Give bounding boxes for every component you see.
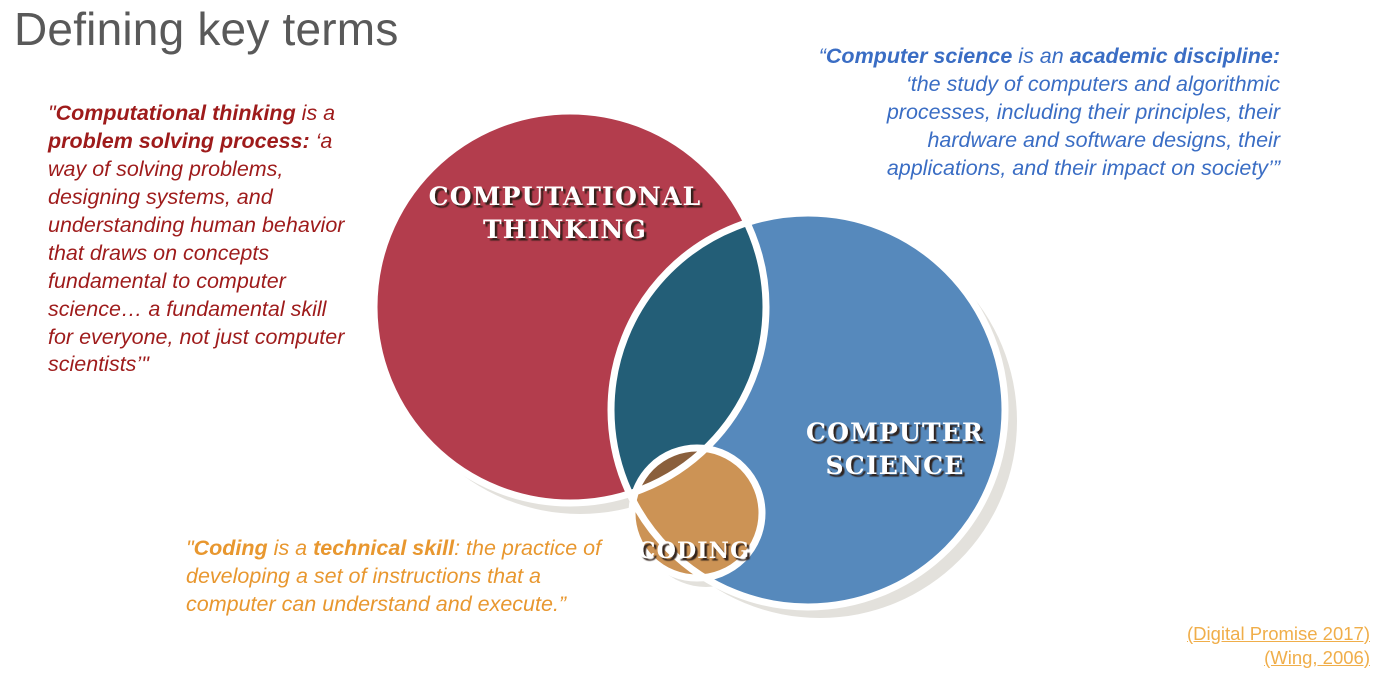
circle-coding[interactable]	[632, 448, 762, 578]
ct-circle-outline	[374, 111, 766, 503]
label-coding: CODING	[638, 538, 750, 564]
quote-cs-body: ‘the study of computers and algorithmic …	[887, 72, 1280, 180]
quote-ct-open: "	[48, 101, 56, 125]
label-computational-thinking-line1: COMPUTATIONAL	[429, 182, 702, 211]
quote-cs-mid1: is an	[1012, 44, 1069, 68]
citation-list: (Digital Promise 2017) (Wing, 2006)	[1187, 622, 1370, 670]
label-computer-science-line1: COMPUTER	[806, 418, 984, 447]
quote-computer-science: “Computer science is an academic discipl…	[810, 43, 1280, 183]
quote-coding-open: "	[186, 536, 194, 560]
quote-cs-bold1: Computer science	[826, 44, 1012, 68]
circle-computational-thinking[interactable]	[374, 111, 766, 503]
quote-coding-bold2: technical skill	[313, 536, 454, 560]
label-computational-thinking-line2: THINKING	[483, 215, 647, 244]
intersection-ct-cs	[611, 213, 1005, 607]
intersection-ct-cs-coding	[611, 213, 1005, 607]
citation-link-digital-promise[interactable]: (Digital Promise 2017)	[1187, 622, 1370, 646]
circle-computer-science[interactable]	[611, 213, 1005, 607]
slide-canvas: Defining key terms	[0, 0, 1384, 676]
page-title: Defining key terms	[14, 2, 399, 56]
quote-cs-bold2: academic discipline:	[1070, 44, 1280, 68]
cs-circle-shadow	[623, 224, 1017, 618]
label-computer-science-line2: SCIENCE	[826, 451, 965, 480]
coding-circle-shadow	[641, 457, 771, 587]
ct-circle-shadow	[384, 122, 776, 514]
quote-computational-thinking: "Computational thinking is a problem sol…	[48, 100, 348, 379]
quote-ct-bold1: Computational thinking	[56, 101, 296, 125]
citation-link-wing[interactable]: (Wing, 2006)	[1187, 646, 1370, 670]
quote-ct-bold2: problem solving process:	[48, 129, 310, 153]
quote-ct-body: ‘a way of solving problems, designing sy…	[48, 129, 344, 377]
quote-coding: "Coding is a technical skill: the practi…	[186, 535, 626, 619]
quote-ct-mid1: is a	[296, 101, 335, 125]
cs-circle-outline	[611, 213, 1005, 607]
quote-cs-open: “	[819, 44, 826, 68]
coding-circle-outline	[632, 448, 762, 578]
quote-coding-bold1: Coding	[194, 536, 268, 560]
quote-coding-mid1: is a	[268, 536, 313, 560]
